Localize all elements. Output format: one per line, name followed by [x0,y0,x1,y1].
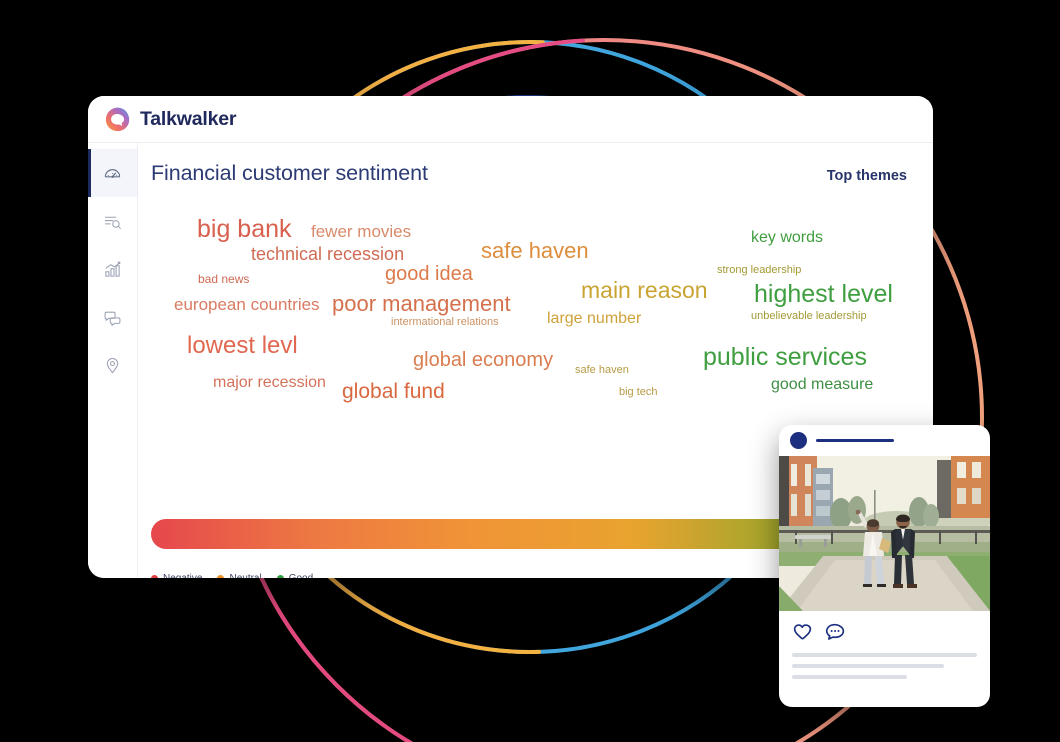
word-cloud-term[interactable]: highest level [754,282,893,307]
word-cloud-term[interactable]: big tech [619,387,658,398]
legend-label: Good [289,573,313,578]
page-title: Financial customer sentiment [151,161,428,187]
word-cloud-term[interactable]: good idea [385,264,473,284]
avatar [790,432,807,449]
heart-icon[interactable] [792,621,813,642]
post-caption-placeholder [779,651,990,679]
sidebar-item-search[interactable] [88,197,137,245]
legend-item[interactable]: Neutral [217,573,261,578]
word-cloud-term[interactable]: poor management [332,293,511,315]
word-cloud: big bankfewer moviessafe havenkey wordst… [151,207,909,431]
top-themes-label[interactable]: Top themes [827,168,907,184]
word-cloud-term[interactable]: unbelievable leadership [751,311,867,322]
word-cloud-term[interactable]: major recession [213,375,326,391]
word-cloud-term[interactable]: global fund [342,381,445,402]
word-cloud-term[interactable]: safe haven [481,240,589,262]
post-author-row [779,425,990,456]
brand-name: Talkwalker [140,108,236,131]
word-cloud-term[interactable]: bad news [198,273,249,285]
chat-bubbles-icon [103,308,122,327]
bar-chart-icon [103,260,122,279]
social-post-card [779,425,990,707]
legend-item[interactable]: Negative [151,573,202,578]
legend-color-dot [217,575,224,578]
word-cloud-term[interactable]: key words [751,230,823,246]
post-image [779,456,990,611]
word-cloud-term[interactable]: safe haven [575,365,629,376]
caption-line [792,675,907,679]
word-cloud-term[interactable]: big bank [197,217,292,242]
word-cloud-term[interactable]: technical recession [251,245,404,263]
word-cloud-term[interactable]: european countries [174,296,320,313]
caption-line [792,653,977,657]
search-list-icon [103,212,122,231]
sidebar-item-conversations[interactable] [88,293,137,341]
legend-color-dot [277,575,284,578]
word-cloud-term[interactable]: fewer movies [311,223,411,240]
word-cloud-term[interactable]: main reason [581,279,708,302]
legend-label: Negative [163,573,202,578]
word-cloud-term[interactable]: good measure [771,377,873,393]
legend-color-dot [151,575,158,578]
sidebar-item-dashboard[interactable] [88,149,137,197]
author-name-placeholder [816,439,894,443]
location-pin-icon [103,356,122,375]
word-cloud-term[interactable]: strong leadership [717,265,801,276]
page-root: Talkwalker [0,0,1060,742]
window-titlebar: Talkwalker [88,96,933,143]
legend: NegativeNeutralGood [151,573,313,578]
legend-label: Neutral [229,573,261,578]
word-cloud-term[interactable]: public services [703,345,867,370]
word-cloud-term[interactable]: intermational relations [391,317,499,328]
sidebar-item-analytics[interactable] [88,245,137,293]
post-actions [779,611,990,651]
caption-line [792,664,944,668]
sidebar-item-locations[interactable] [88,341,137,389]
word-cloud-term[interactable]: lowest levl [187,334,298,358]
comment-bubble-icon[interactable] [825,621,846,642]
word-cloud-term[interactable]: global economy [413,350,553,370]
sidebar [88,143,138,578]
legend-item[interactable]: Good [277,573,313,578]
dashboard-gauge-icon [103,164,122,183]
word-cloud-term[interactable]: large number [547,311,641,327]
panel-header: Financial customer sentiment Top themes [151,161,909,187]
talkwalker-logo-icon [104,106,131,133]
